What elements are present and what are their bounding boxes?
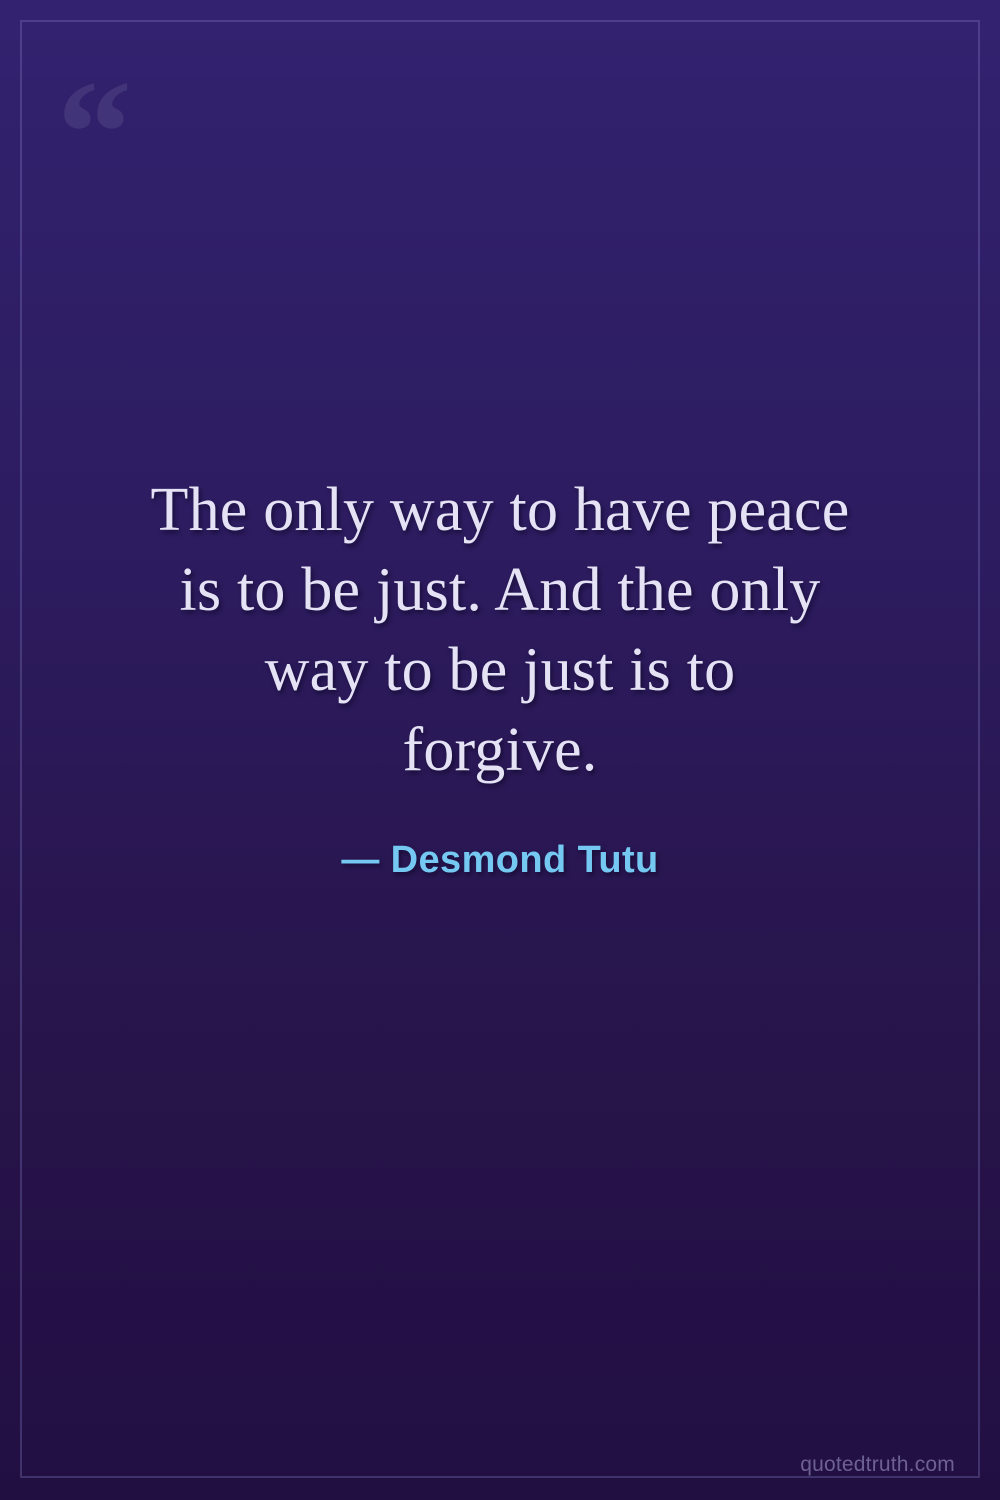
left-double-quote-icon: “	[57, 58, 132, 208]
quote-author: — Desmond Tutu	[341, 838, 658, 882]
quote-card: “ The only way to have peace is to be ju…	[0, 0, 1000, 1500]
quote-text-line: forgive.	[402, 716, 597, 784]
quote-text-line: The only way to have peace	[151, 476, 850, 544]
quote-text: The only way to have peace is to be just…	[90, 470, 910, 790]
site-watermark: quotedtruth.com	[800, 1452, 955, 1478]
quote-text-line: is to be just. And the only	[180, 556, 821, 624]
quote-content: The only way to have peace is to be just…	[0, 470, 1000, 882]
quote-text-line: way to be just is to	[265, 636, 736, 704]
